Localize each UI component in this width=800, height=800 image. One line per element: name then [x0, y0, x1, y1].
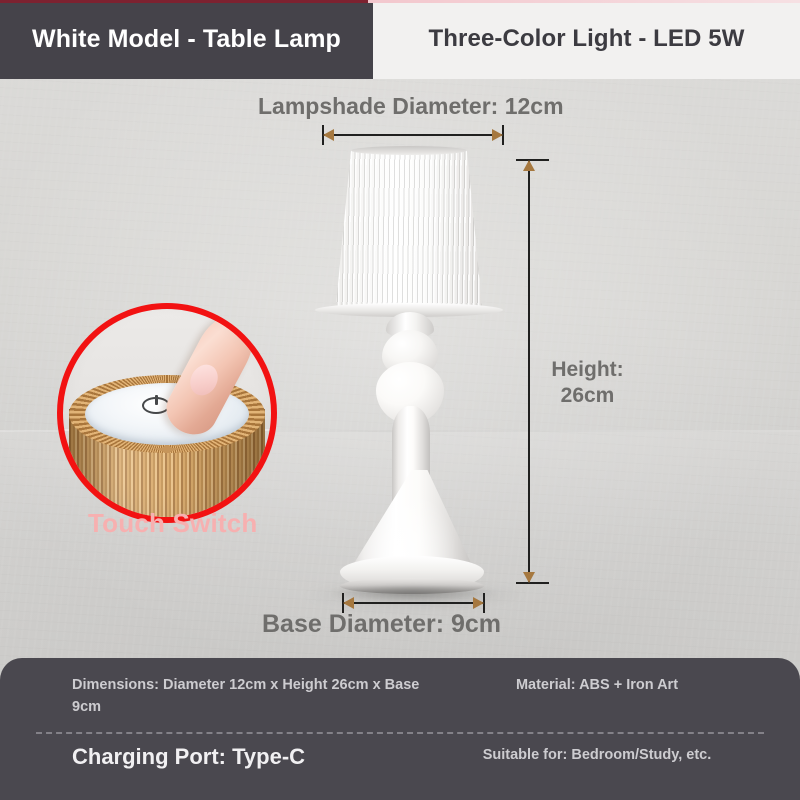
spec-footer-panel: Dimensions: Diameter 12cm x Height 26cm … — [0, 658, 800, 800]
touch-switch-inset — [57, 303, 277, 523]
spec-divider — [36, 732, 764, 734]
header-left-title: White Model - Table Lamp — [32, 25, 341, 54]
header-left-panel: White Model - Table Lamp — [0, 0, 373, 79]
height-arrow — [523, 159, 535, 584]
lampshade-diameter-label: Lampshade Diameter: 12cm — [258, 93, 564, 120]
arrow-line — [342, 602, 485, 604]
arrow-head-right-icon — [473, 597, 484, 609]
spec-row-top: Dimensions: Diameter 12cm x Height 26cm … — [0, 674, 800, 730]
spec-charging-port: Charging Port: Type-C — [0, 744, 430, 796]
lampshade-diameter-arrow — [322, 129, 504, 141]
arrow-head-left-icon — [343, 597, 354, 609]
header-bar: White Model - Table Lamp Three-Color Lig… — [0, 0, 800, 79]
height-label-line1: Height: — [535, 357, 640, 383]
arrow-head-up-icon — [523, 160, 535, 171]
spec-suitable-for: Suitable for: Bedroom/Study, etc. — [430, 744, 800, 796]
product-infographic: Lampshade Diameter: 12cm Height: 26cm Ba… — [0, 0, 800, 800]
spec-material: Material: ABS + Iron Art — [430, 674, 800, 730]
arrow-line — [322, 134, 504, 136]
arrow-line-vertical — [528, 159, 530, 584]
arrow-head-down-icon — [523, 572, 535, 583]
header-right-title: Three-Color Light - LED 5W — [429, 26, 745, 53]
base-diameter-label: Base Diameter: 9cm — [262, 610, 501, 639]
arrow-head-right-icon — [492, 129, 503, 141]
base-diameter-arrow — [342, 597, 485, 609]
header-accent-line — [0, 0, 800, 3]
spec-row-bottom: Charging Port: Type-C Suitable for: Bedr… — [0, 744, 800, 796]
spec-dimensions: Dimensions: Diameter 12cm x Height 26cm … — [0, 674, 430, 730]
height-label: Height: 26cm — [535, 357, 640, 408]
touch-switch-label: Touch Switch — [88, 508, 257, 539]
height-label-line2: 26cm — [535, 383, 640, 409]
inset-vignette — [63, 309, 271, 517]
arrow-head-left-icon — [323, 129, 334, 141]
header-right-panel: Three-Color Light - LED 5W — [373, 0, 800, 79]
